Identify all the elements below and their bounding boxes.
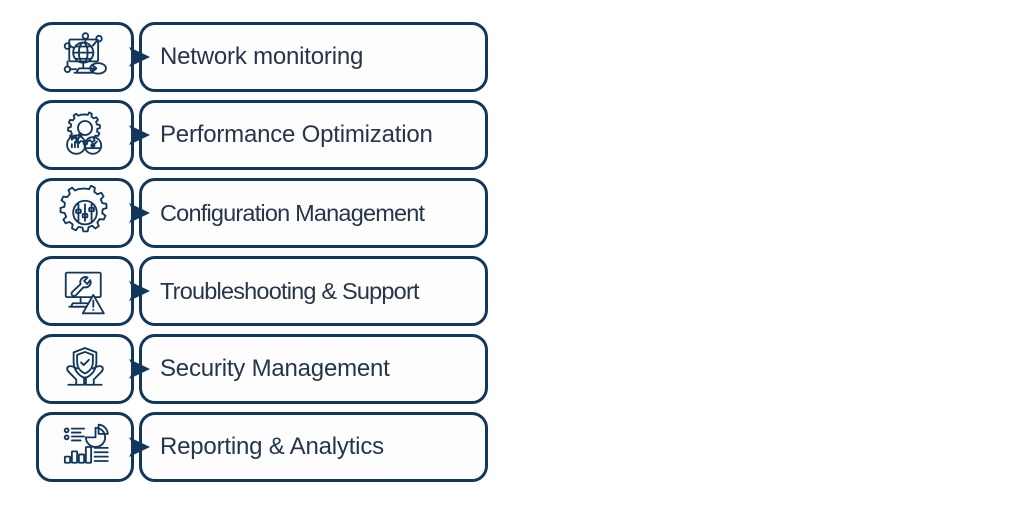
list-item[interactable]: Reporting & Analytics (36, 412, 488, 482)
icon-box-network-monitoring[interactable] (36, 22, 134, 92)
list-item[interactable]: Security Management (36, 334, 488, 404)
network-globe-monitor-icon (57, 29, 113, 85)
icon-label-list: Network monitoring (36, 22, 488, 482)
monitor-wrench-warning-icon (57, 263, 113, 319)
arrow-right-icon (124, 42, 154, 72)
list-item-label: Performance Optimization (160, 121, 433, 149)
arrow-right-icon (124, 120, 154, 150)
arrow-right-icon (124, 198, 154, 228)
icon-box-performance-optimization[interactable] (36, 100, 134, 170)
label-box-performance-optimization[interactable]: Performance Optimization (139, 100, 488, 170)
label-box-troubleshooting-support[interactable]: Troubleshooting & Support (139, 256, 488, 326)
list-item-label: Configuration Management (160, 200, 424, 227)
connector-6 (134, 412, 139, 482)
icon-box-troubleshooting-support[interactable] (36, 256, 134, 326)
diagram-canvas: Network monitoring (0, 0, 1024, 513)
icon-box-configuration-management[interactable] (36, 178, 134, 248)
arrow-right-icon (124, 432, 154, 462)
list-item[interactable]: Performance Optimization (36, 100, 488, 170)
icon-box-security-management[interactable] (36, 334, 134, 404)
connector-5 (134, 334, 139, 404)
label-box-security-management[interactable]: Security Management (139, 334, 488, 404)
icon-box-reporting-analytics[interactable] (36, 412, 134, 482)
gear-performance-gauge-icon (57, 107, 113, 163)
arrow-right-icon (124, 354, 154, 384)
connector-3 (134, 178, 139, 248)
arrow-right-icon (124, 276, 154, 306)
shield-hands-icon (57, 341, 113, 397)
gear-sliders-icon (57, 185, 113, 241)
connector-4 (134, 256, 139, 326)
connector-1 (134, 22, 139, 92)
label-box-network-monitoring[interactable]: Network monitoring (139, 22, 488, 92)
list-item-label: Troubleshooting & Support (160, 278, 419, 305)
list-item[interactable]: Network monitoring (36, 22, 488, 92)
list-item-label: Security Management (160, 355, 390, 383)
charts-report-icon (57, 419, 113, 475)
list-item[interactable]: Configuration Management (36, 178, 488, 248)
connector-2 (134, 100, 139, 170)
list-item-label: Reporting & Analytics (160, 433, 384, 461)
list-item[interactable]: Troubleshooting & Support (36, 256, 488, 326)
label-box-configuration-management[interactable]: Configuration Management (139, 178, 488, 248)
list-item-label: Network monitoring (160, 43, 363, 71)
label-box-reporting-analytics[interactable]: Reporting & Analytics (139, 412, 488, 482)
